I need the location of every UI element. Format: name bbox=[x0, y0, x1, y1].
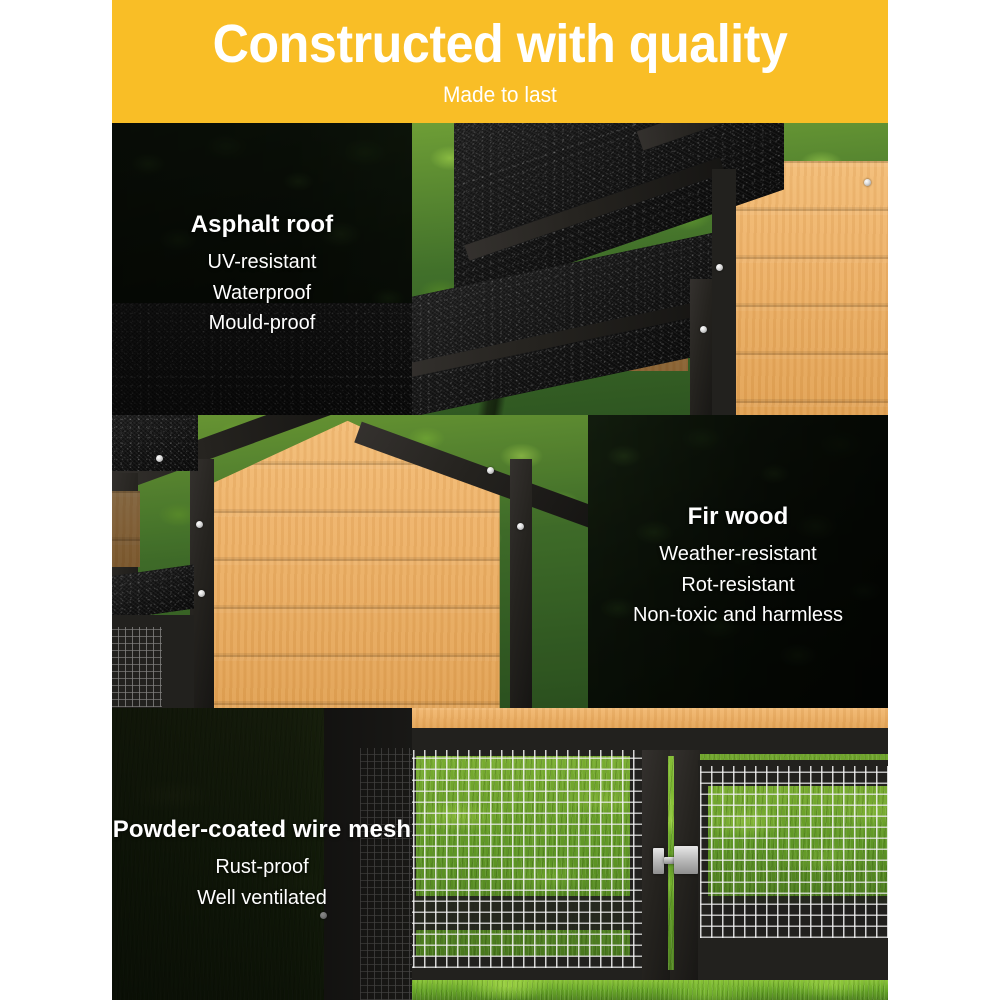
door-stile bbox=[670, 750, 700, 1000]
latch-plate bbox=[653, 848, 664, 874]
feature-heading: Powder-coated wire mesh bbox=[112, 816, 412, 844]
asphalt-roof-edge bbox=[112, 415, 198, 471]
screw-head bbox=[156, 455, 163, 462]
caption-cell-fir-wood: Fir wood Weather-resistant Rot-resistant… bbox=[588, 415, 888, 708]
feature-bullet: Waterproof bbox=[112, 278, 412, 308]
feature-bullet: Mould-proof bbox=[112, 308, 412, 338]
feature-bullet: UV-resistant bbox=[112, 247, 412, 277]
screw-head bbox=[517, 523, 524, 530]
caption-cell-wire-mesh: Powder-coated wire mesh Rust-proof Well … bbox=[112, 708, 412, 1000]
wire-mesh-left bbox=[412, 750, 642, 968]
feature-bullet: Well ventilated bbox=[112, 883, 412, 913]
page-title: Constructed with quality bbox=[213, 17, 788, 71]
gable-edge-post bbox=[712, 169, 736, 415]
photo-asphalt-roof bbox=[412, 123, 888, 415]
wire-mesh-right bbox=[700, 766, 888, 938]
header-banner: Constructed with quality Made to last bbox=[112, 0, 888, 123]
feature-heading: Asphalt roof bbox=[112, 211, 412, 239]
fir-wood-wall bbox=[734, 161, 888, 415]
caption-cell-asphalt-roof: Asphalt roof UV-resistant Waterproof Mou… bbox=[112, 123, 412, 415]
feature-row-wire-mesh: Powder-coated wire mesh Rust-proof Well … bbox=[112, 708, 888, 1000]
screw-head bbox=[864, 179, 871, 186]
interior-wood-panel bbox=[112, 491, 140, 567]
feature-heading: Fir wood bbox=[588, 503, 888, 531]
screw-head bbox=[487, 467, 494, 474]
photo-wire-mesh bbox=[412, 708, 888, 1000]
page-subtitle: Made to last bbox=[443, 84, 557, 106]
feature-bullet: Rot-resistant bbox=[588, 570, 888, 600]
latch-hasp bbox=[674, 846, 698, 874]
feature-bullet: Non-toxic and harmless bbox=[588, 600, 888, 630]
screw-head bbox=[196, 521, 203, 528]
gable-post-right bbox=[510, 459, 532, 708]
feature-text-asphalt-roof: Asphalt roof UV-resistant Waterproof Mou… bbox=[112, 211, 412, 338]
wire-mesh-patch bbox=[112, 627, 162, 707]
photo-fir-wood bbox=[112, 415, 588, 708]
product-feature-infographic: Constructed with quality Made to last As… bbox=[0, 0, 1000, 1000]
screw-head bbox=[700, 326, 707, 333]
foreground-grass bbox=[412, 980, 888, 1000]
feature-row-fir-wood: Fir wood Weather-resistant Rot-resistant… bbox=[112, 415, 888, 708]
feature-text-wire-mesh: Powder-coated wire mesh Rust-proof Well … bbox=[112, 816, 412, 913]
feature-row-asphalt-roof: Asphalt roof UV-resistant Waterproof Mou… bbox=[112, 123, 888, 415]
wooden-top-rail bbox=[412, 708, 888, 730]
screw-head bbox=[716, 264, 723, 271]
feature-text-fir-wood: Fir wood Weather-resistant Rot-resistant… bbox=[588, 503, 888, 630]
screw-head bbox=[198, 590, 205, 597]
feature-bullet: Rust-proof bbox=[112, 852, 412, 882]
feature-bullet: Weather-resistant bbox=[588, 539, 888, 569]
